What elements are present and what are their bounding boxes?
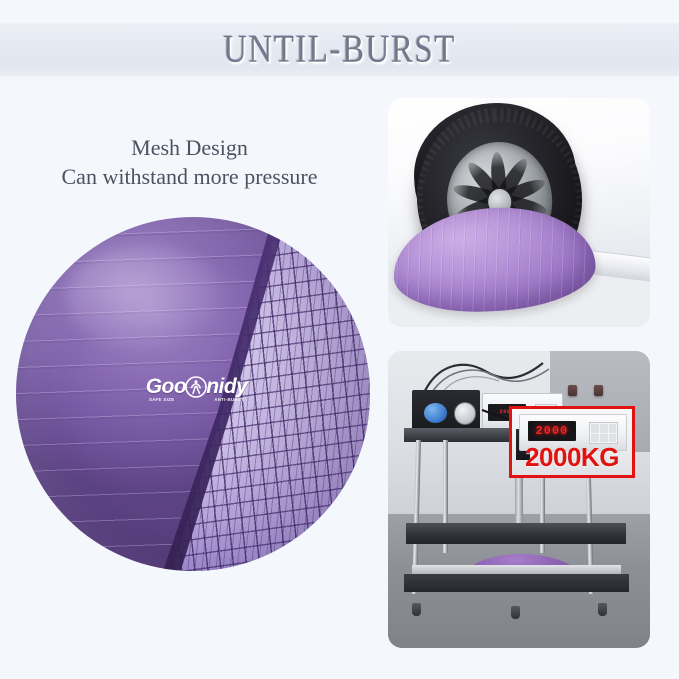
- exercise-ball-illustration: Goo nidy SAFE SIZE ANTI-BURST: [16, 217, 370, 571]
- headline-line-1: Mesh Design: [0, 133, 379, 162]
- feature-headline: Mesh Design Can withstand more pressure: [0, 133, 379, 192]
- caster-wheel-right: [598, 603, 607, 616]
- headline-line-2: Can withstand more pressure: [0, 162, 379, 191]
- tire-scene: [388, 98, 650, 327]
- panel-tire-on-ball: [388, 98, 650, 327]
- left-feature-column: Mesh Design Can withstand more pressure …: [0, 75, 379, 679]
- panel-press-test: 2000 2000: [388, 351, 650, 648]
- ball-highlight: [66, 245, 229, 351]
- callout-keypad: [589, 422, 618, 444]
- machine-base-plate: [404, 574, 629, 592]
- header-band: UNTIL-BURST: [0, 23, 679, 77]
- callout-weight-label: 2000KG: [512, 444, 632, 470]
- ball-body: Goo nidy SAFE SIZE ANTI-BURST: [16, 217, 370, 571]
- cabinet-switch-left[interactable]: [568, 385, 577, 396]
- callout-led-display: 2000: [528, 421, 577, 440]
- press-plate: [406, 523, 626, 544]
- callout-led-value: 2000: [535, 424, 568, 438]
- blue-indicator-light: [424, 403, 447, 423]
- pressure-gauge: [454, 402, 476, 424]
- page-title: UNTIL-BURST: [223, 28, 456, 72]
- caster-wheel-left: [412, 603, 421, 616]
- weight-callout-box: 2000 2000KG: [509, 406, 635, 478]
- press-scene: 2000 2000: [388, 351, 650, 648]
- caster-wheel-center: [511, 606, 520, 619]
- cabinet-switch-right[interactable]: [594, 385, 603, 396]
